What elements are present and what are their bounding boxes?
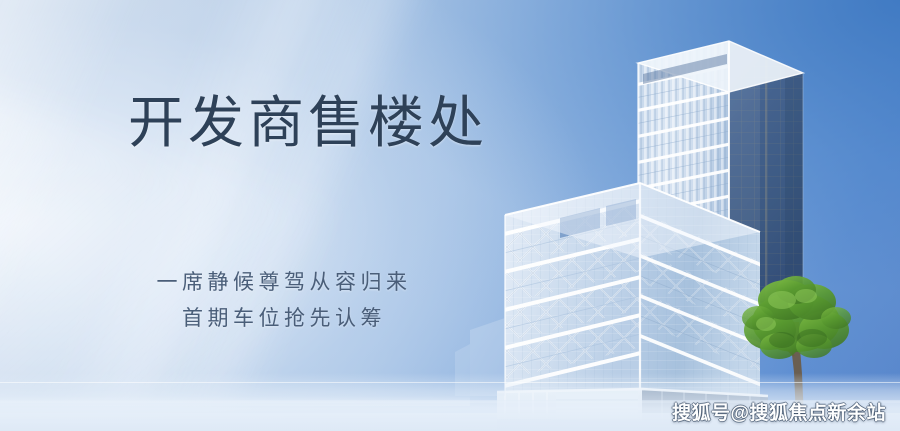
subtitle-line-1: 一席静候尊驾从容归来 <box>128 272 440 293</box>
subtitle-line-2: 首期车位抢先认筹 <box>128 308 440 329</box>
real-estate-banner: 开发商售楼处 一席静候尊驾从容归来 首期车位抢先认筹 搜狐号@搜狐焦点新余站 <box>0 0 900 431</box>
sohu-watermark: 搜狐号@搜狐焦点新余站 <box>672 398 886 425</box>
horizon-line <box>0 382 900 383</box>
building-complex-illustration <box>0 0 900 431</box>
page-title: 开发商售楼处 <box>128 96 488 152</box>
